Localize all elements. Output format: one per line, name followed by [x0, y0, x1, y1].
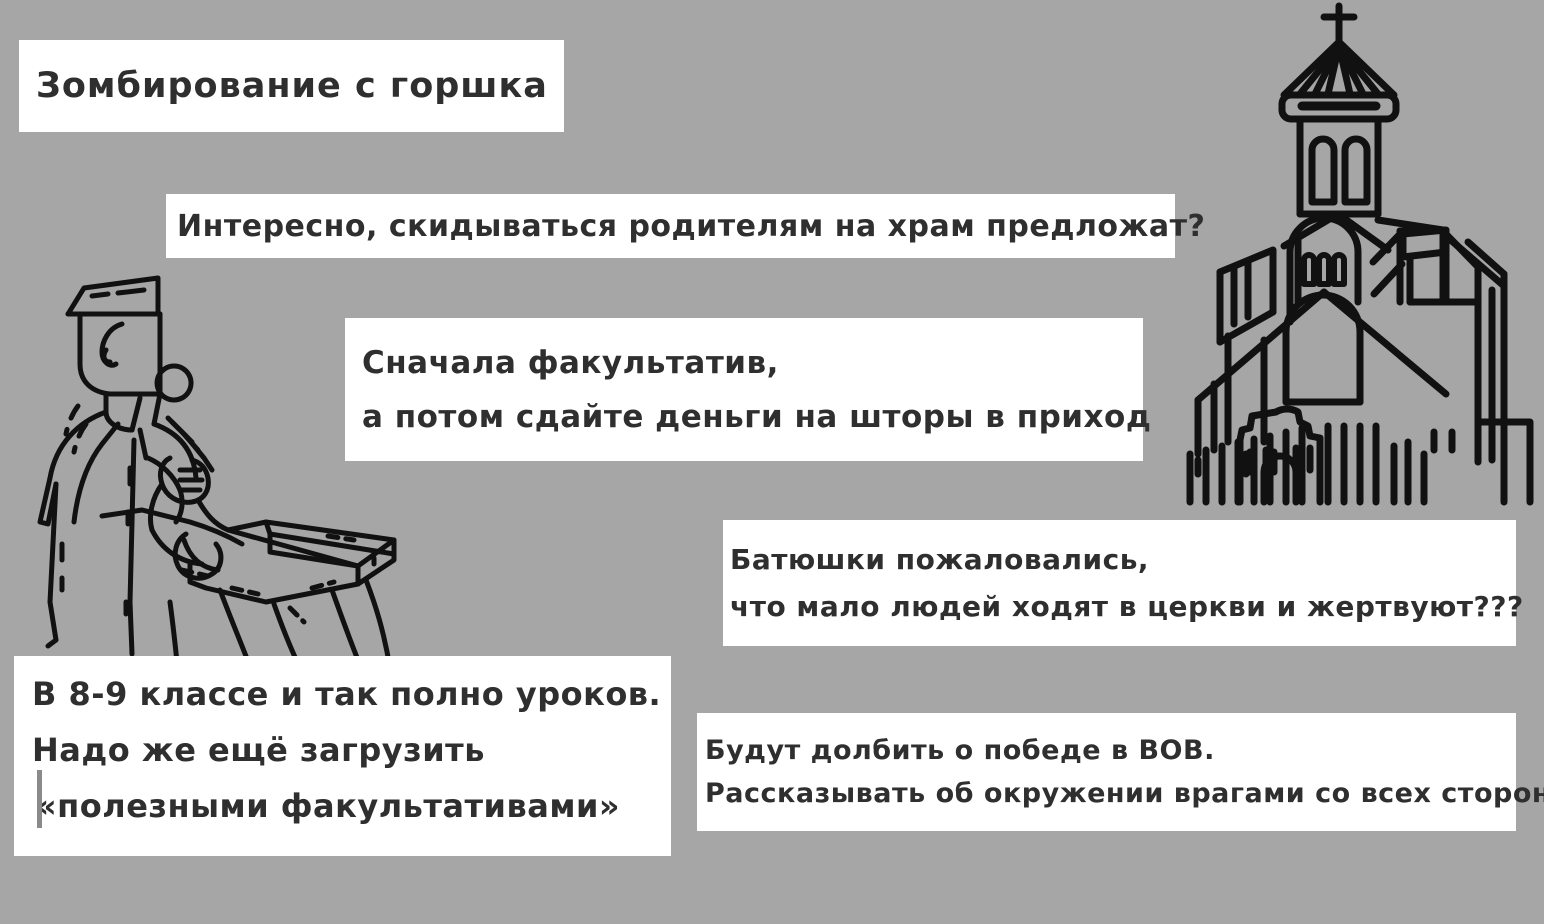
comment-4-line-1: В 8-9 классе и так полно уроков. — [32, 675, 671, 713]
church-illustration — [1178, 2, 1544, 507]
comment-box-4: В 8-9 классе и так полно уроков. Надо же… — [14, 656, 671, 856]
comment-5-line-1: Будут долбить о победе в ВОВ. — [705, 735, 1516, 766]
comment-box-2: Сначала факультатив, а потом сдайте день… — [345, 318, 1143, 461]
church-icon — [1178, 2, 1544, 507]
comment-3-line-2: что мало людей ходят в церкви и жертвуют… — [730, 590, 1516, 623]
poster-title-box: Зомбирование с горшка — [19, 40, 564, 132]
poster-title-text: Зомбирование с горшка — [36, 66, 564, 106]
comment-1-line-1: Интересно, скидываться родителям на храм… — [177, 209, 1175, 244]
comment-5-line-2: Рассказывать об окружении врагами со все… — [705, 778, 1516, 809]
comment-box-3: Батюшки пожаловались, что мало людей ход… — [723, 520, 1516, 646]
comment-2-line-1: Сначала факультатив, — [362, 345, 1143, 381]
comment-4-line-2: Надо же ещё загрузить — [32, 731, 671, 769]
comment-4-line-3: «полезными факультативами» — [32, 787, 671, 825]
comment-box-1: Интересно, скидываться родителям на храм… — [166, 194, 1175, 258]
text-cursor-caret — [37, 770, 42, 828]
comment-3-line-1: Батюшки пожаловались, — [730, 543, 1516, 576]
poster-canvas: Зомбирование с горшка Интересно, скидыва… — [0, 0, 1544, 924]
comment-2-line-2: а потом сдайте деньги на шторы в приход — [362, 399, 1143, 435]
comment-box-5: Будут долбить о победе в ВОВ. Рассказыва… — [697, 713, 1516, 831]
